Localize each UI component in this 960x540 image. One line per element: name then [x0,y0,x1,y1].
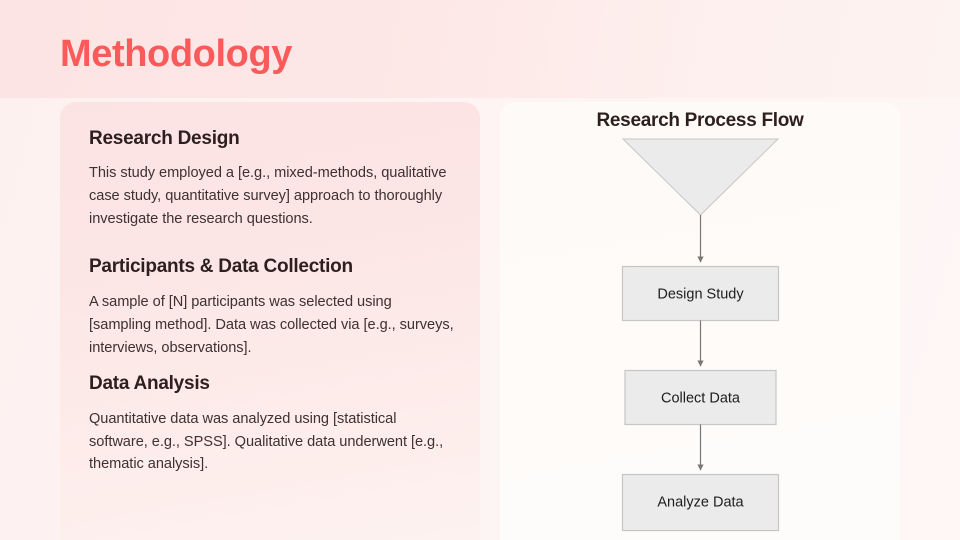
spacer [89,150,454,162]
section-body-research-design: This study employed a [e.g., mixed-metho… [89,162,454,230]
flow-node-label-analyze-data: Analyze Data [657,495,744,511]
research-process-flowchart: Design Study Collect Data Analyze Data [500,102,900,540]
page-title: Methodology [60,33,292,76]
spacer [89,278,454,291]
flow-node-label-collect-data: Collect Data [661,391,741,407]
section-body-data-analysis: Quantitative data was analyzed using [st… [89,408,454,476]
methodology-text-card: Research Design This study employed a [e… [60,102,480,540]
section-heading-participants-data-collection: Participants & Data Collection [89,256,454,278]
flow-node-label-design-study: Design Study [657,287,744,303]
flow-node-diamond-clipped [623,139,778,215]
slide-header: Methodology [0,0,960,98]
spacer [89,230,454,256]
spacer [89,360,454,373]
section-heading-research-design: Research Design [89,128,454,150]
slide-canvas: Methodology Research Design This study e… [0,0,960,540]
section-body-participants-data-collection: A sample of [N] participants was selecte… [89,291,454,359]
methodology-sections: Research Design This study employed a [e… [89,128,454,476]
spacer [89,395,454,408]
section-heading-data-analysis: Data Analysis [89,373,454,395]
research-process-flow-card: Research Process Flow Design Study Colle… [500,102,900,540]
